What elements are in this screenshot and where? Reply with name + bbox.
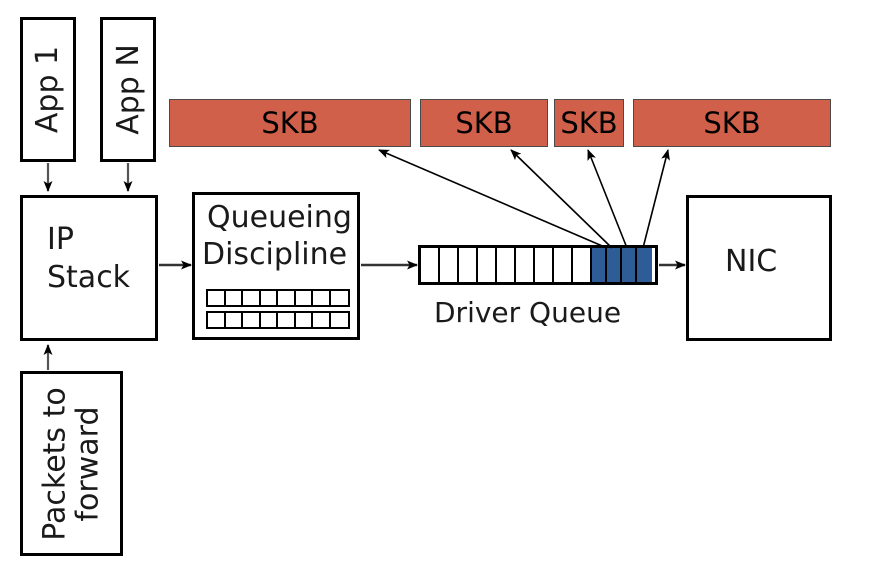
qdisc-buffer-cell	[331, 291, 348, 305]
node-app-n: App N	[100, 17, 156, 162]
node-app-n-label: App N	[112, 44, 145, 135]
qdisc-buffer-cell	[331, 313, 348, 327]
skb-block-4-label: SKB	[703, 106, 760, 140]
driver-queue-slot-empty	[573, 248, 592, 282]
edge-slot3-to-skb3	[588, 150, 627, 248]
node-packets-to-forward-line1: Packets to	[38, 387, 73, 540]
driver-queue-slot-filled	[592, 248, 607, 282]
node-nic-label: NIC	[725, 246, 777, 278]
qdisc-buffer-cell	[226, 291, 244, 305]
node-ip-stack-label-line1: IP	[47, 224, 74, 256]
node-packets-to-forward-label: Packets to forward	[39, 387, 105, 540]
driver-queue-slot-empty	[497, 248, 516, 282]
node-queueing-discipline-label-line1: Queueing	[207, 202, 352, 234]
qdisc-buffer-cell	[208, 291, 226, 305]
qdisc-buffer-cell	[278, 313, 296, 327]
driver-queue-slot-filled	[622, 248, 637, 282]
qdisc-buffer-cell	[243, 291, 261, 305]
qdisc-buffer-cell	[296, 313, 314, 327]
node-nic: NIC	[686, 195, 832, 341]
skb-block-3: SKB	[554, 99, 624, 147]
driver-queue	[418, 245, 658, 285]
qdisc-buffer-row-2	[206, 311, 350, 329]
skb-block-1: SKB	[169, 99, 411, 147]
skb-block-1-label: SKB	[261, 106, 318, 140]
node-ip-stack-label-line2: Stack	[47, 262, 130, 294]
qdisc-buffer-cell	[226, 313, 244, 327]
qdisc-buffer-cell	[296, 291, 314, 305]
driver-queue-slot-empty	[554, 248, 573, 282]
driver-queue-slot-empty	[478, 248, 497, 282]
driver-queue-caption: Driver Queue	[434, 296, 621, 329]
driver-queue-slot-empty	[440, 248, 459, 282]
node-app-1: App 1	[20, 17, 76, 162]
edge-slot4-to-skb4	[643, 150, 668, 248]
qdisc-buffer-cell	[208, 313, 226, 327]
skb-block-4: SKB	[633, 99, 831, 147]
node-app-1-label: App 1	[32, 46, 65, 133]
qdisc-buffer-cell	[243, 313, 261, 327]
node-packets-to-forward-line2: forward	[71, 406, 106, 521]
node-queueing-discipline: Queueing Discipline	[192, 192, 360, 340]
node-ip-stack: IP Stack	[20, 195, 158, 341]
driver-queue-slot-empty	[459, 248, 478, 282]
node-queueing-discipline-label-line2: Discipline	[202, 239, 347, 271]
driver-queue-slot-empty	[516, 248, 535, 282]
edge-slot2-to-skb2	[511, 150, 612, 248]
qdisc-buffer-cell	[313, 291, 331, 305]
diagram-canvas: App 1 App N SKB SKB SKB SKB IP Stack Que…	[0, 0, 884, 575]
driver-queue-slot-empty	[421, 248, 440, 282]
driver-queue-slot-empty	[535, 248, 554, 282]
driver-queue-slot-filled	[607, 248, 622, 282]
driver-queue-slot-filled	[637, 248, 652, 282]
qdisc-buffer-cell	[313, 313, 331, 327]
qdisc-buffer-cell	[261, 313, 279, 327]
skb-block-2-label: SKB	[455, 106, 512, 140]
qdisc-buffer-cell	[278, 291, 296, 305]
skb-block-2: SKB	[420, 99, 548, 147]
qdisc-buffer-row-1	[206, 289, 350, 307]
qdisc-buffer-cell	[261, 291, 279, 305]
node-packets-to-forward: Packets to forward	[20, 371, 123, 556]
skb-block-3-label: SKB	[560, 106, 617, 140]
edge-slot1-to-skb1	[379, 150, 607, 248]
